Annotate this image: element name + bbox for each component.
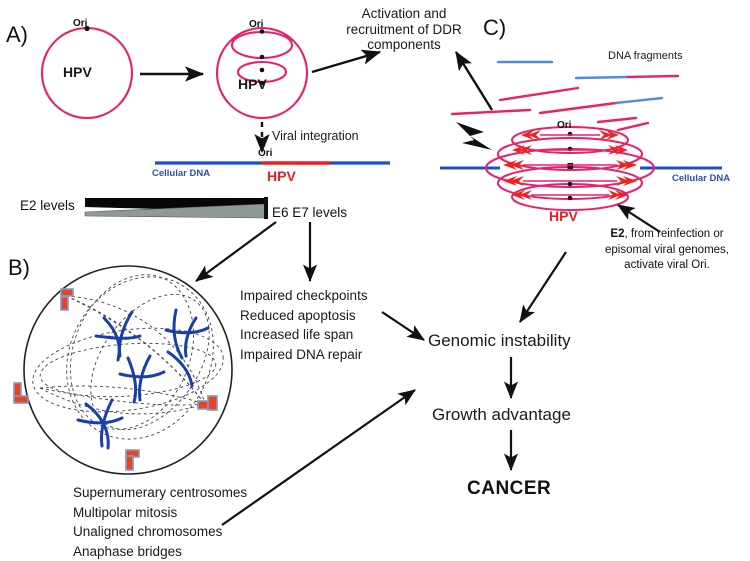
integrated-hpv-label: HPV [267, 168, 296, 184]
cancer-label: CANCER [467, 478, 551, 500]
onionskin-ori-label: Ori [557, 120, 571, 132]
episome-hpv-label: HPV [63, 64, 92, 80]
diagram-vector-layer [0, 0, 750, 553]
growth-advantage-label: Growth advantage [432, 405, 571, 425]
onion-skin-replication [440, 127, 722, 210]
e6e7-levels-label: E6 E7 levels [272, 205, 347, 221]
lightning-bolt-icon [456, 122, 492, 150]
onionskin-hpv-label: HPV [549, 208, 578, 224]
ddr-text-block: Activation and recruitment of DDR compon… [336, 6, 472, 53]
e2-levels-label: E2 levels [20, 198, 75, 214]
e2-note-line-2: episomal viral genomes, [587, 243, 747, 259]
multipolar-mitosis-cell [14, 251, 241, 474]
panel-c-letter: C) [483, 15, 506, 40]
figure-canvas: A) Ori HPV Ori HPV Activation and recrui… [0, 0, 750, 553]
e2-e6e7-level-wedges [85, 197, 268, 219]
panel-b-letter: B) [8, 255, 30, 280]
arrow-to-ddr [312, 52, 380, 72]
e2-note-rest-1: , from reinfection or [625, 228, 724, 240]
feature-line-3: Unaligned chromosomes [73, 522, 247, 542]
arrow-features-to-instability [222, 390, 415, 525]
ddr-line-2: recruitment of DDR [336, 22, 472, 38]
feature-line-2: Multipolar mitosis [73, 503, 247, 523]
cellular-dna-label-a: Cellular DNA [152, 169, 210, 180]
arrow-c-to-ddr [456, 52, 492, 110]
feature-line-4: Anaphase bridges [73, 542, 247, 561]
e2-reinfection-note: E2, from reinfection or episomal viral g… [587, 227, 747, 274]
cell-features-text-block: Supernumerary centrosomes Multipolar mit… [73, 483, 247, 561]
effect-line-3: Increased life span [240, 325, 368, 345]
feature-line-1: Supernumerary centrosomes [73, 483, 247, 503]
arrow-effects-to-instability [382, 312, 424, 340]
ddr-line-1: Activation and [336, 6, 472, 22]
replicating-ori-label: Ori [249, 19, 263, 31]
integrated-ori-label: Ori [258, 148, 272, 160]
e2-note-line-1: E2, from reinfection or [587, 227, 747, 243]
e2-note-line-3: activate viral Ori. [587, 258, 747, 274]
genomic-instability-label: Genomic instability [428, 331, 571, 351]
replicating-hpv-label: HPV [238, 76, 267, 92]
viral-integration-label: Viral integration [272, 129, 359, 143]
arrow-levels-to-cell [196, 222, 276, 281]
dna-fragments-label: DNA fragments [608, 50, 683, 63]
panel-a-letter: A) [6, 22, 28, 47]
hpv-replicating-theta [217, 28, 307, 118]
arrow-c-to-instability [520, 252, 566, 322]
effect-line-4: Impaired DNA repair [240, 345, 368, 365]
effect-line-1: Impaired checkpoints [240, 286, 368, 306]
ddr-line-3: components [336, 37, 472, 53]
e2-bold-label: E2 [610, 228, 624, 240]
cellular-dna-label-c: Cellular DNA [672, 174, 730, 185]
episome-ori-label: Ori [73, 18, 87, 30]
effects-text-block: Impaired checkpoints Reduced apoptosis I… [240, 286, 368, 364]
effect-line-2: Reduced apoptosis [240, 306, 368, 326]
